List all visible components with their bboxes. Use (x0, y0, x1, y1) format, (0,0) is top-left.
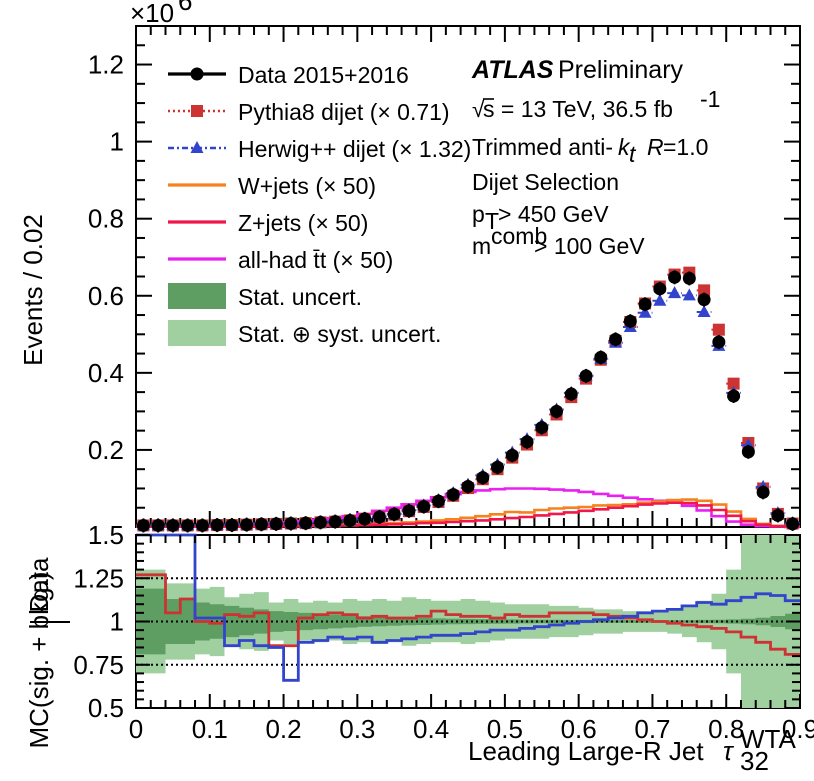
marker-circle (211, 519, 224, 532)
marker-circle (284, 517, 297, 530)
legend-label: Z+jets (× 50) (238, 210, 368, 236)
ratio-title-denominator: MC(sig. + bkg.) (24, 572, 54, 749)
marker-circle (491, 461, 504, 474)
marker-circle (580, 369, 593, 382)
ratio-y-tick-label: 1.5 (88, 520, 124, 550)
marker-circle (624, 315, 637, 328)
legend-item[interactable]: Stat. ⊕ syst. uncert. (168, 320, 441, 347)
marker-circle (550, 405, 563, 418)
marker-circle (609, 333, 622, 346)
selection-label: Dijet Selection (472, 169, 619, 195)
legend-marker-square (191, 105, 203, 117)
y-axis-exponent: ×106 (130, 0, 192, 28)
marker-circle (727, 389, 740, 402)
marker-circle (565, 388, 578, 401)
marker-circle (639, 298, 652, 311)
marker-circle (299, 517, 312, 530)
marker-circle (417, 500, 430, 513)
marker-circle (668, 271, 681, 284)
exponent-base: ×10 (130, 0, 174, 28)
marker-circle (462, 480, 475, 493)
marker-circle (432, 495, 445, 508)
jet-radius-symbol: R (647, 134, 664, 160)
legend-swatch (168, 320, 226, 346)
jet-radius-value: =1.0 (663, 134, 708, 160)
marker-circle (373, 510, 386, 523)
marker-circle (270, 517, 283, 530)
marker-circle (757, 486, 770, 499)
marker-circle (166, 519, 179, 532)
marker-circle (786, 517, 799, 530)
marker-circle (196, 519, 209, 532)
y-axis-tick-label: 0.2 (88, 435, 124, 465)
marker-circle (255, 518, 268, 531)
legend-label: Herwig++ dijet (× 1.32) (238, 136, 471, 162)
y-axis-tick-label: 1.2 (88, 50, 124, 80)
legend-label: Stat. ⊕ syst. uncert. (238, 321, 441, 347)
ratio-y-tick-label: 0.75 (73, 650, 124, 680)
marker-circle (594, 351, 607, 364)
marker-circle (314, 516, 327, 529)
luminosity-exponent: -1 (700, 86, 720, 112)
x-axis-tick-label: 0 (129, 714, 143, 744)
pt-symbol: p (472, 201, 485, 227)
legend-label: W+jets (× 50) (238, 173, 376, 199)
marker-circle (343, 514, 356, 527)
y-axis-tick-label: 0.6 (88, 281, 124, 311)
marker-circle (742, 445, 755, 458)
legend-marker-circle (191, 68, 204, 81)
legend-item[interactable]: Stat. uncert. (168, 283, 362, 310)
luminosity-text: s = 13 TeV, 36.5 fb (483, 96, 673, 122)
ratio-panel: 0.50.7511.251.500.10.20.30.40.50.60.70.8… (24, 520, 814, 749)
figure-root: 0.20.40.60.811.2Events / 0.02×106Data 20… (0, 0, 814, 781)
marker-circle (653, 282, 666, 295)
marker-circle (181, 519, 194, 532)
ratio-y-tick-label: 0.5 (88, 693, 124, 723)
marker-circle (402, 504, 415, 517)
mass-symbol: m (472, 233, 491, 259)
x-axis-tick-label: 0.3 (339, 714, 375, 744)
legend-label: Stat. uncert. (238, 284, 362, 310)
legend-label: Pythia8 dijet (× 0.71) (238, 99, 450, 125)
marker-circle (137, 519, 150, 532)
y-axis-tick-label: 1 (110, 127, 124, 157)
legend-label: all-had t̄t (× 50) (238, 247, 393, 273)
marker-circle (240, 518, 253, 531)
marker-circle (712, 336, 725, 349)
marker-circle (506, 449, 519, 462)
x-axis-tick-label: 0.2 (265, 714, 301, 744)
y-axis-title: Events / 0.02 (18, 214, 48, 366)
marker-circle (152, 519, 165, 532)
marker-circle (358, 512, 371, 525)
marker-circle (535, 421, 548, 434)
marker-circle (225, 519, 238, 532)
atlas-label: ATLAS (471, 56, 554, 84)
legend-label: Data 2015+2016 (238, 62, 409, 88)
x-axis-tick-label: 0.4 (413, 714, 449, 744)
preliminary-label: Preliminary (558, 56, 684, 84)
ratio-axis-title: DataMC(sig. + bkg.) (24, 557, 70, 748)
marker-circle (388, 508, 401, 521)
marker-circle (771, 509, 784, 522)
jet-algo-prefix: Trimmed anti- (472, 134, 613, 160)
marker-circle (447, 488, 460, 501)
legend-swatch (168, 283, 226, 309)
exponent-power: 6 (178, 0, 192, 16)
marker-square (713, 324, 725, 336)
x-title-text: Leading Large-R Jet (468, 736, 704, 766)
x-title-superscript: WTA (740, 724, 796, 754)
marker-circle (698, 293, 711, 306)
y-axis-tick-label: 0.4 (88, 358, 124, 388)
y-axis-tick-label: 0.8 (88, 204, 124, 234)
marker-circle (683, 272, 696, 285)
ratio-y-tick-label: 1.25 (73, 563, 124, 593)
mass-cut-value: > 100 GeV (534, 233, 645, 259)
ratio-y-tick-label: 1 (110, 607, 124, 637)
marker-circle (329, 515, 342, 528)
x-axis-tick-label: 0.1 (192, 714, 228, 744)
marker-circle (476, 471, 489, 484)
physics-plot: 0.20.40.60.811.2Events / 0.02×106Data 20… (0, 0, 814, 781)
marker-circle (521, 435, 534, 448)
